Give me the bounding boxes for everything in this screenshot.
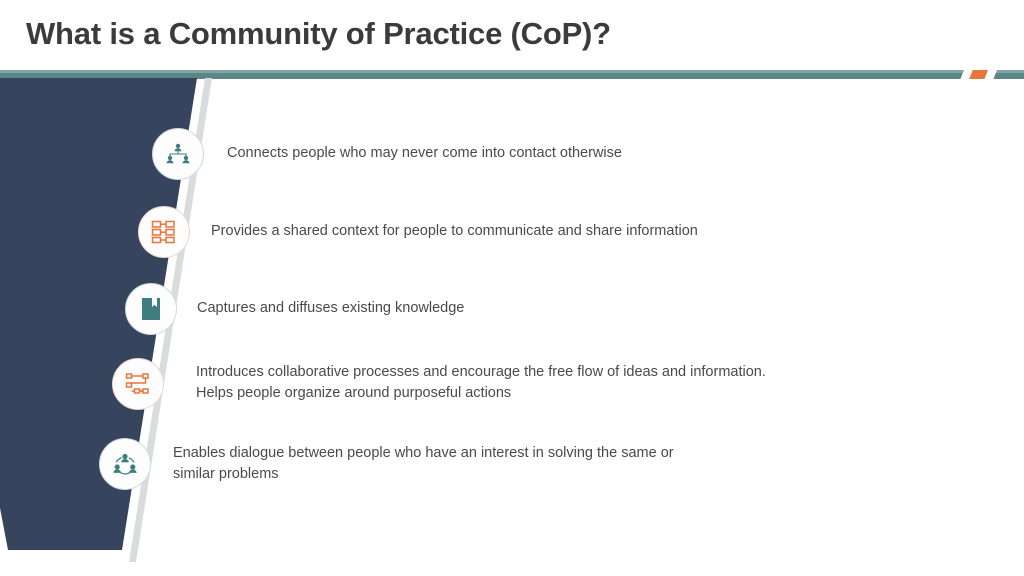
list-item-text: Provides a shared context for people to … (211, 221, 931, 242)
list-item-text: Introduces collaborative processes and e… (196, 362, 956, 404)
header-divider-highlight (0, 70, 1024, 73)
icon-badge[interactable] (125, 283, 177, 335)
network-hierarchy-icon (165, 141, 191, 167)
icon-badge[interactable] (99, 438, 151, 490)
icon-badge[interactable] (112, 358, 164, 410)
page-title: What is a Community of Practice (CoP)? (26, 16, 611, 52)
slide-canvas: What is a Community of Practice (CoP)? (0, 0, 1024, 576)
list-item-text: Enables dialogue between people who have… (173, 443, 933, 485)
book-icon (139, 296, 163, 322)
icon-badge[interactable] (152, 128, 204, 180)
list-item-text: Connects people who may never come into … (227, 143, 927, 164)
list-item-text: Captures and diffuses existing knowledge (197, 298, 897, 319)
people-collaboration-icon (112, 451, 138, 477)
process-arrows-icon (125, 372, 151, 396)
flowchart-icon (151, 219, 177, 245)
icon-badge[interactable] (138, 206, 190, 258)
